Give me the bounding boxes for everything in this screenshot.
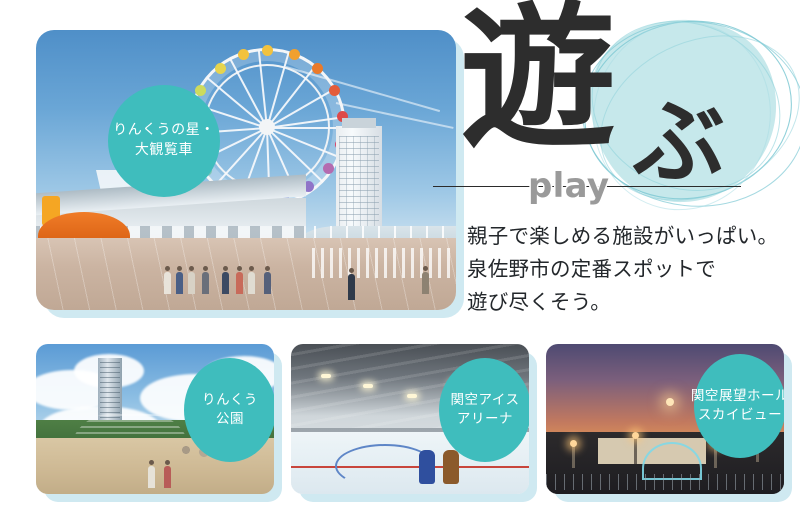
mascot-character xyxy=(419,450,435,484)
description-line-2: 泉佐野市の定番スポットで xyxy=(467,253,778,286)
mascot-character xyxy=(443,450,459,484)
promo-banner: りんくうの星・ 大観覧車 遊 ぶ play 親子で楽しめる施設がいっぱい。 泉佐… xyxy=(0,0,800,515)
thumb-badge-1-line1: りんくう xyxy=(202,391,258,410)
description-line-3: 遊び尽くそう。 xyxy=(467,286,778,319)
thumbnail-kanku-ice-arena[interactable]: 関空アイス アリーナ xyxy=(291,344,529,494)
thumb-badge-2[interactable]: 関空アイス アリーナ xyxy=(439,358,529,462)
description-line-1: 親子で楽しめる施設がいっぱい。 xyxy=(467,220,778,253)
thumb-badge-1[interactable]: りんくう 公園 xyxy=(184,358,274,462)
person-figure xyxy=(148,466,155,488)
lamp-icon xyxy=(634,436,637,464)
title-block: 遊 ぶ play 親子で楽しめる施設がいっぱい。 泉佐野市の定番スポットで 遊び… xyxy=(455,18,800,318)
person-figure xyxy=(264,272,271,294)
person-figure xyxy=(248,272,255,294)
title-kana-bu: ぶ xyxy=(633,96,725,188)
hero-badge-line1: りんくうの星・ xyxy=(113,121,215,141)
thumb-badge-3-line2: スカイビュー xyxy=(698,406,782,425)
person-figure xyxy=(202,272,209,294)
person-figure xyxy=(188,272,195,294)
lamp-icon xyxy=(572,444,575,468)
person-figure xyxy=(164,272,171,294)
sunset-glow-icon xyxy=(666,398,674,406)
person-figure xyxy=(222,272,229,294)
thumbnail-kanku-sky-view[interactable]: 関空展望ホール スカイビュー xyxy=(546,344,784,494)
person-figure xyxy=(164,466,171,488)
person-figure xyxy=(348,274,355,300)
hero-badge-line2: 大観覧車 xyxy=(135,141,193,161)
person-figure xyxy=(236,272,243,294)
thumb-badge-2-line2: アリーナ xyxy=(457,410,513,429)
description-text: 親子で楽しめる施設がいっぱい。 泉佐野市の定番スポットで 遊び尽くそう。 xyxy=(467,220,778,320)
title-kanji-asobu: 遊 xyxy=(460,0,616,156)
thumb-badge-1-line2: 公園 xyxy=(216,410,244,429)
thumbnail-rinku-park[interactable]: りんくう 公園 xyxy=(36,344,274,494)
person-figure xyxy=(176,272,183,294)
outdoor-chairs xyxy=(312,248,456,278)
person-figure xyxy=(422,272,429,294)
thumb-badge-2-line1: 関空アイス xyxy=(450,391,519,410)
hero-location-badge[interactable]: りんくうの星・ 大観覧車 xyxy=(108,85,220,197)
title-romaji-play: play xyxy=(528,166,609,206)
hero-photo-rinku-ferris-wheel[interactable]: りんくうの星・ 大観覧車 xyxy=(36,30,456,310)
thumb-badge-3-line1: 関空展望ホール xyxy=(691,387,784,406)
thumb-badge-3[interactable]: 関空展望ホール スカイビュー xyxy=(694,354,784,458)
observation-railing xyxy=(546,474,784,490)
